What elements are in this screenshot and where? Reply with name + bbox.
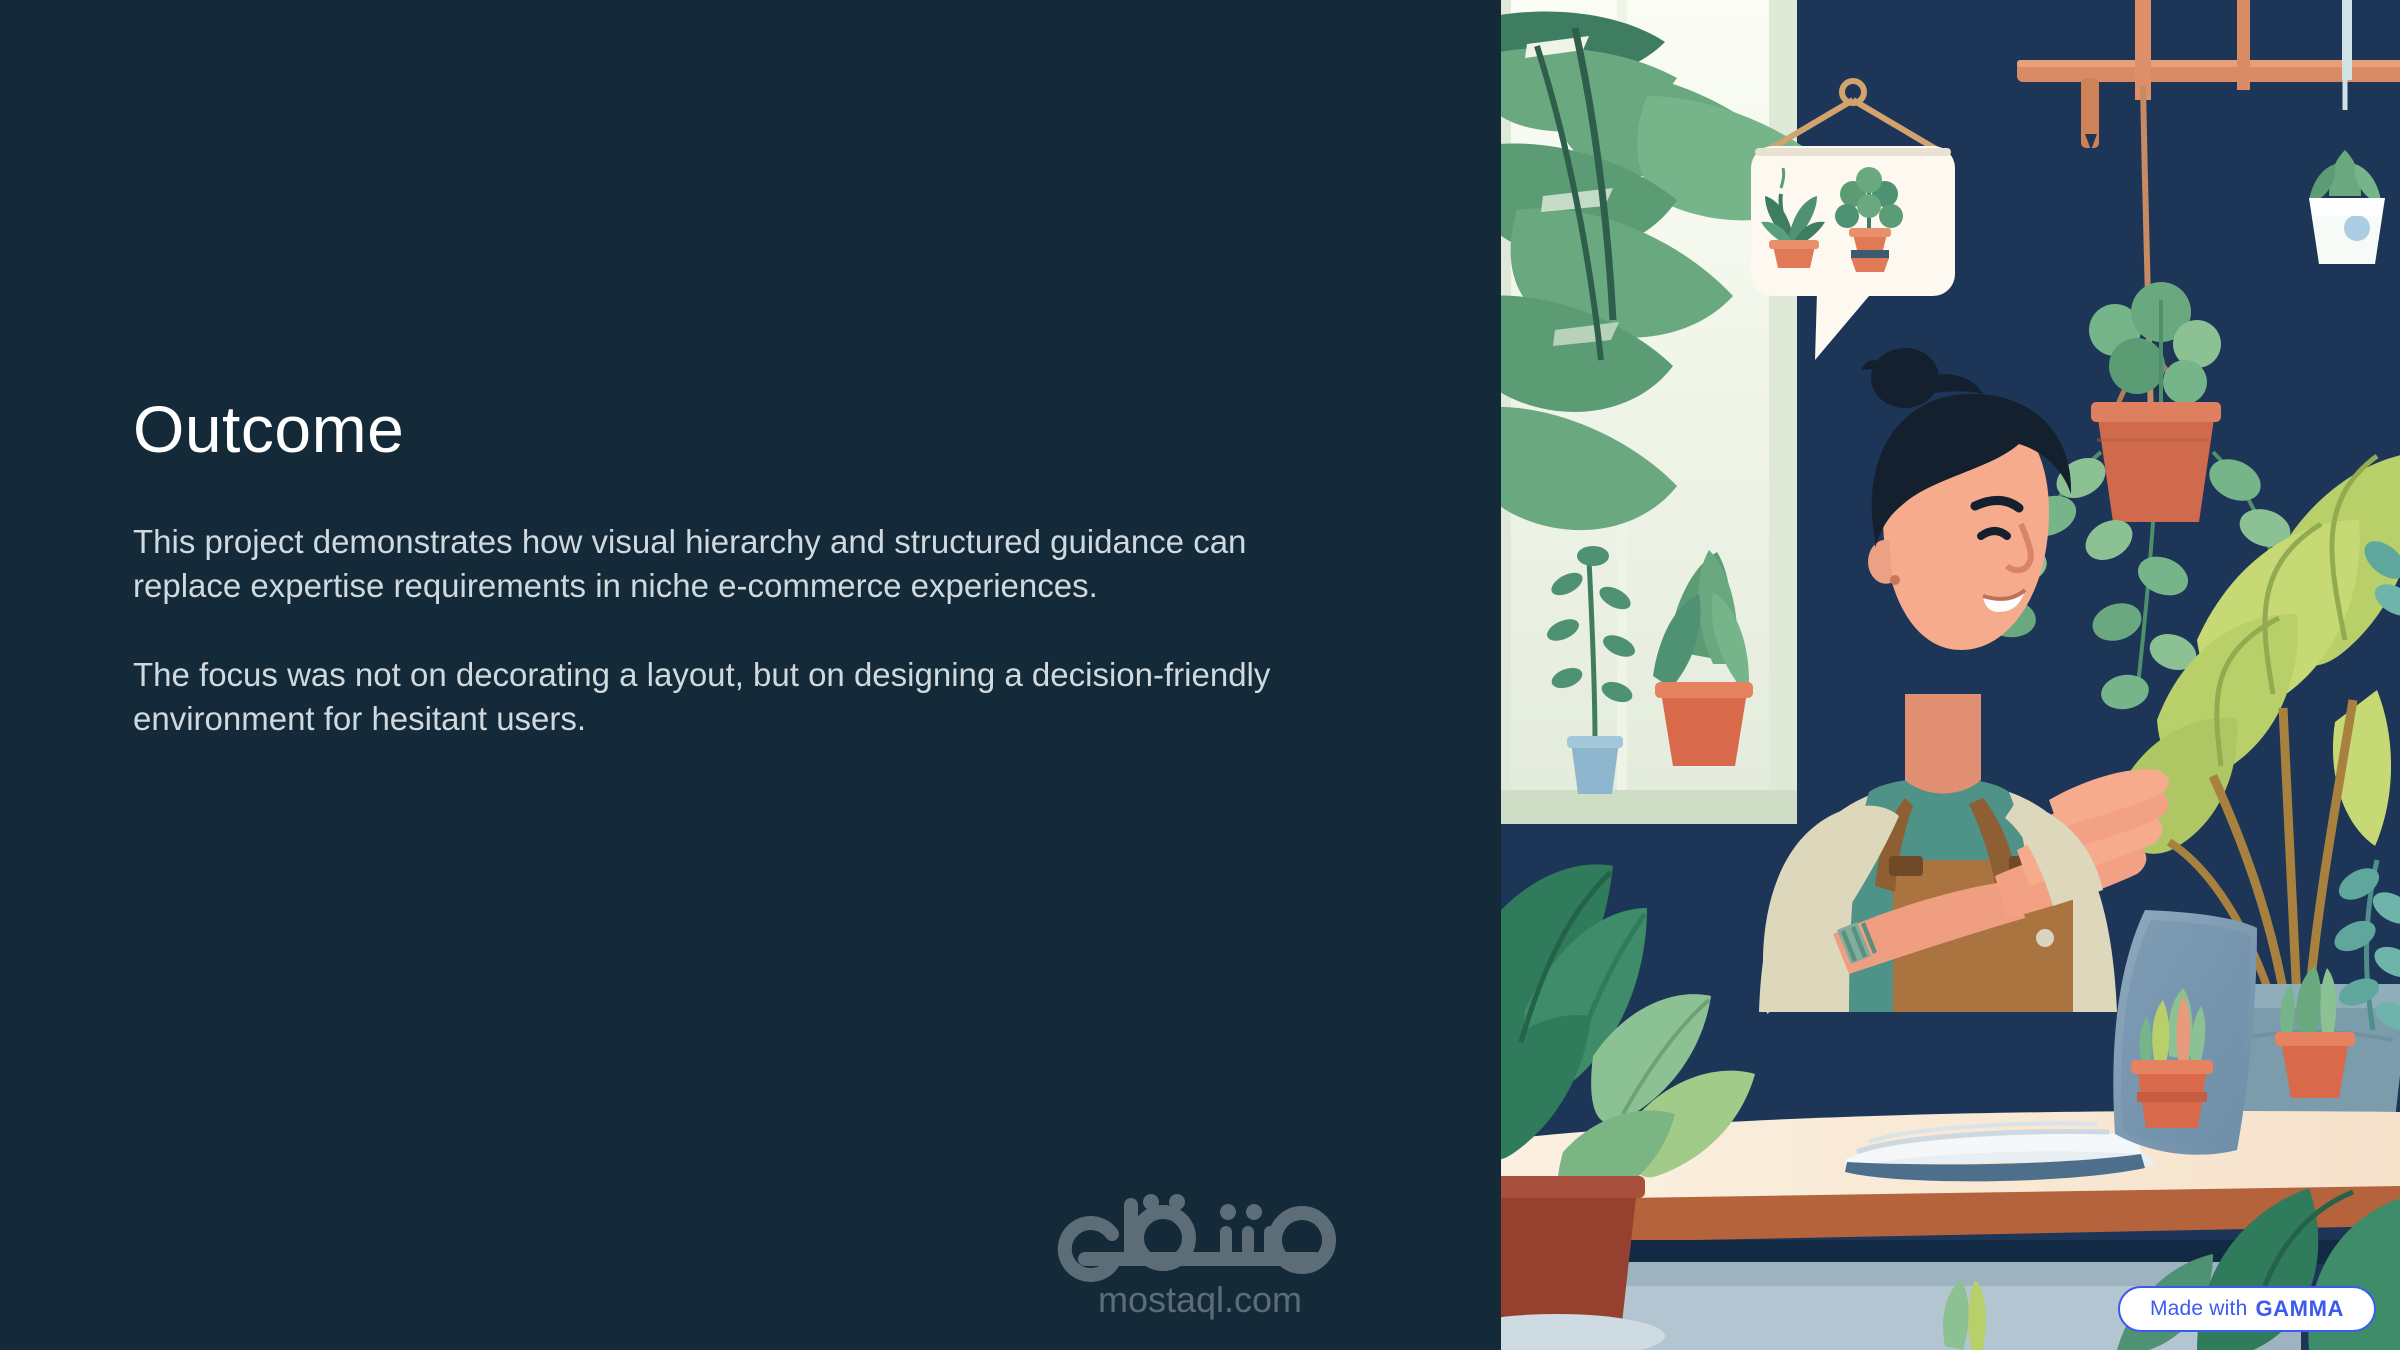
gamma-made-with-label: Made with xyxy=(2150,1297,2248,1321)
gamma-brand-label: GAMMA xyxy=(2255,1296,2344,1322)
made-with-gamma-badge[interactable]: Made with GAMMA xyxy=(2118,1286,2376,1332)
page-title: Outcome xyxy=(133,395,1383,464)
mostaql-domain-text: mostaql.com xyxy=(1098,1279,1302,1320)
plant-shop-illustration xyxy=(1497,0,2400,1350)
text-panel: Outcome This project demonstrates how vi… xyxy=(0,0,1497,1350)
body-paragraph-1: This project demonstrates how visual hie… xyxy=(133,520,1348,608)
illustration-panel: Made with GAMMA xyxy=(1497,0,2400,1350)
slide-root: Outcome This project demonstrates how vi… xyxy=(0,0,2400,1350)
body-paragraph-2: The focus was not on decorating a layout… xyxy=(133,653,1348,741)
mostaql-arabic-logo-icon xyxy=(1065,1194,1329,1275)
text-block: Outcome This project demonstrates how vi… xyxy=(133,395,1383,741)
person-hair-bun xyxy=(1871,348,1939,408)
mostaql-watermark: mostaql.com xyxy=(1050,1190,1350,1325)
person-neck xyxy=(1905,694,1981,794)
